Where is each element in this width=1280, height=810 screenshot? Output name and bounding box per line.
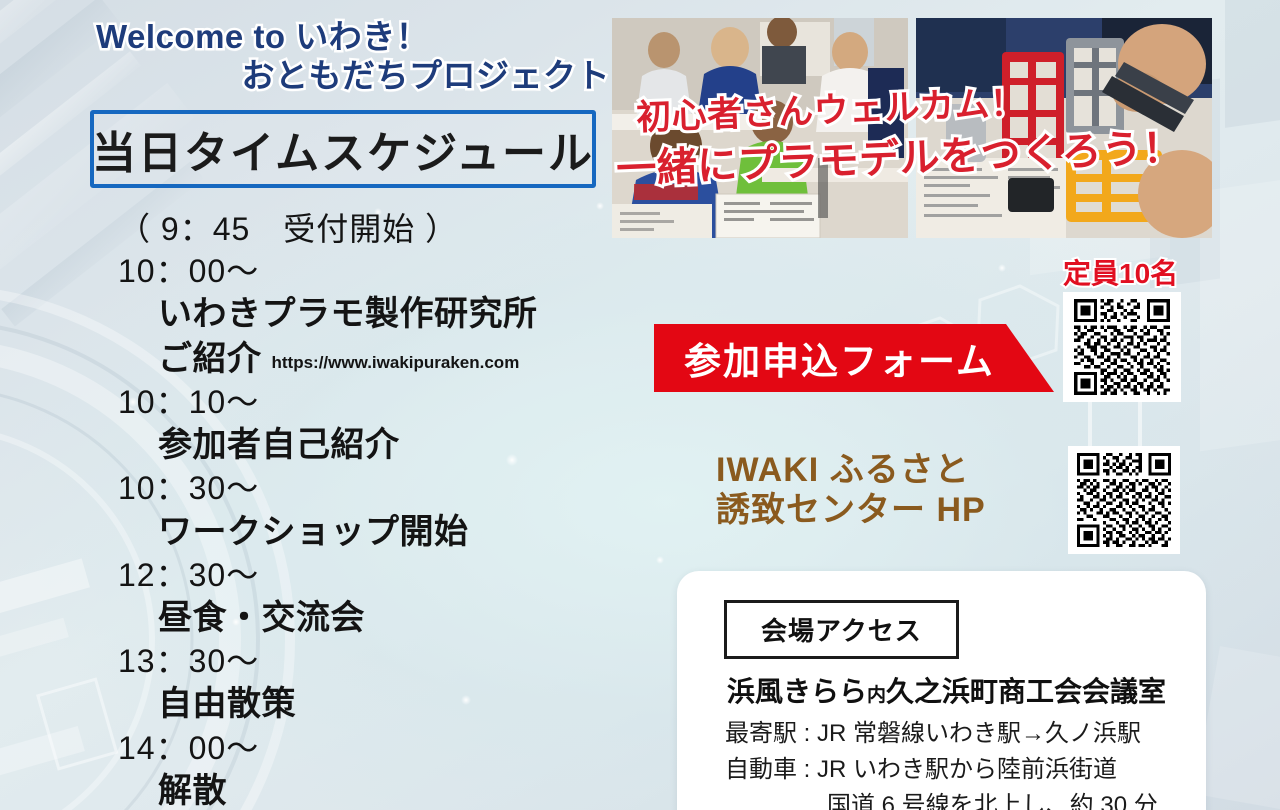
schedule-item-0-text2: ご紹介 [158, 340, 262, 378]
schedule-item-5: 解散 [118, 769, 638, 810]
venue-name-suffix: 久之浜町商工会会議室 [886, 676, 1166, 707]
iwaki-hp-line-2: 誘致センター HP [716, 490, 1046, 530]
schedule-time-0: 10：00～ [118, 250, 638, 292]
headline-line-1: Welcome to いわき！ [96, 18, 616, 57]
iwakipuraken-url[interactable]: https://www.iwakipuraken.com [272, 353, 520, 372]
venue-access-badge: 会場アクセス [724, 600, 959, 659]
capacity-badge: 定員10名 [1063, 252, 1178, 292]
schedule-note: （ 9：45 受付開始 ） [118, 208, 638, 250]
schedule-item-1: 参加者自己紹介 [118, 423, 638, 467]
schedule-item-0: いわきプラモ製作研究所 [118, 292, 638, 336]
schedule-time-3: 12：30～ [118, 554, 638, 596]
schedule-time-5: 14：00～ [118, 727, 638, 769]
workshop-photo-left [612, 18, 908, 238]
venue-name-prefix: 浜風きらら [727, 676, 867, 707]
application-form-banner[interactable]: 参加申込フォーム [654, 324, 1054, 392]
photo-strip [612, 18, 1212, 238]
iwaki-hp-qr-code[interactable] [1068, 446, 1180, 554]
workshop-photo-right [916, 18, 1212, 238]
venue-access-train: 最寄駅 : JR 常磐線いわき駅→久ノ浜駅 [725, 713, 1141, 748]
schedule-item-2: ワークショップ開始 [118, 510, 638, 554]
iwaki-hp-line-1: IWAKI ふるさと [716, 450, 1046, 490]
application-form-qr-code[interactable] [1063, 292, 1181, 402]
schedule-item-3: 昼食・交流会 [118, 596, 638, 640]
schedule-title-label: 当日タイムスケジュール [92, 117, 594, 181]
headline-line-2: おともだちプロジェクト [96, 57, 616, 96]
page-title: Welcome to いわき！ おともだちプロジェクト [96, 18, 616, 96]
venue-access-car-detail: 国道 6 号線を北上し、約 30 分 [827, 785, 1158, 810]
venue-name: 浜風きらら内久之浜町商工会会議室 [727, 670, 1166, 710]
schedule-time-2: 10：30～ [118, 467, 638, 509]
banner-label: 参加申込フォーム [684, 324, 995, 392]
schedule-time-1: 10：10～ [118, 381, 638, 423]
schedule-time-4: 13：30～ [118, 640, 638, 682]
venue-access-card: 会場アクセス 浜風きらら内久之浜町商工会会議室 最寄駅 : JR 常磐線いわき駅… [677, 571, 1206, 810]
iwaki-hp-label: IWAKI ふるさと 誘致センター HP [716, 450, 1046, 530]
schedule-item-0-line2: ご紹介https://www.iwakipuraken.com [118, 337, 638, 381]
schedule-list: （ 9：45 受付開始 ） 10：00～ いわきプラモ製作研究所 ご紹介http… [118, 208, 638, 810]
venue-name-small: 内 [867, 685, 886, 706]
venue-access-car: 自動車 : JR いわき駅から陸前浜街道 [725, 749, 1117, 784]
schedule-item-4: 自由散策 [118, 682, 638, 726]
poster-canvas: Welcome to いわき！ おともだちプロジェクト 当日タイムスケジュール … [0, 0, 1280, 810]
schedule-title-box: 当日タイムスケジュール [90, 110, 596, 188]
